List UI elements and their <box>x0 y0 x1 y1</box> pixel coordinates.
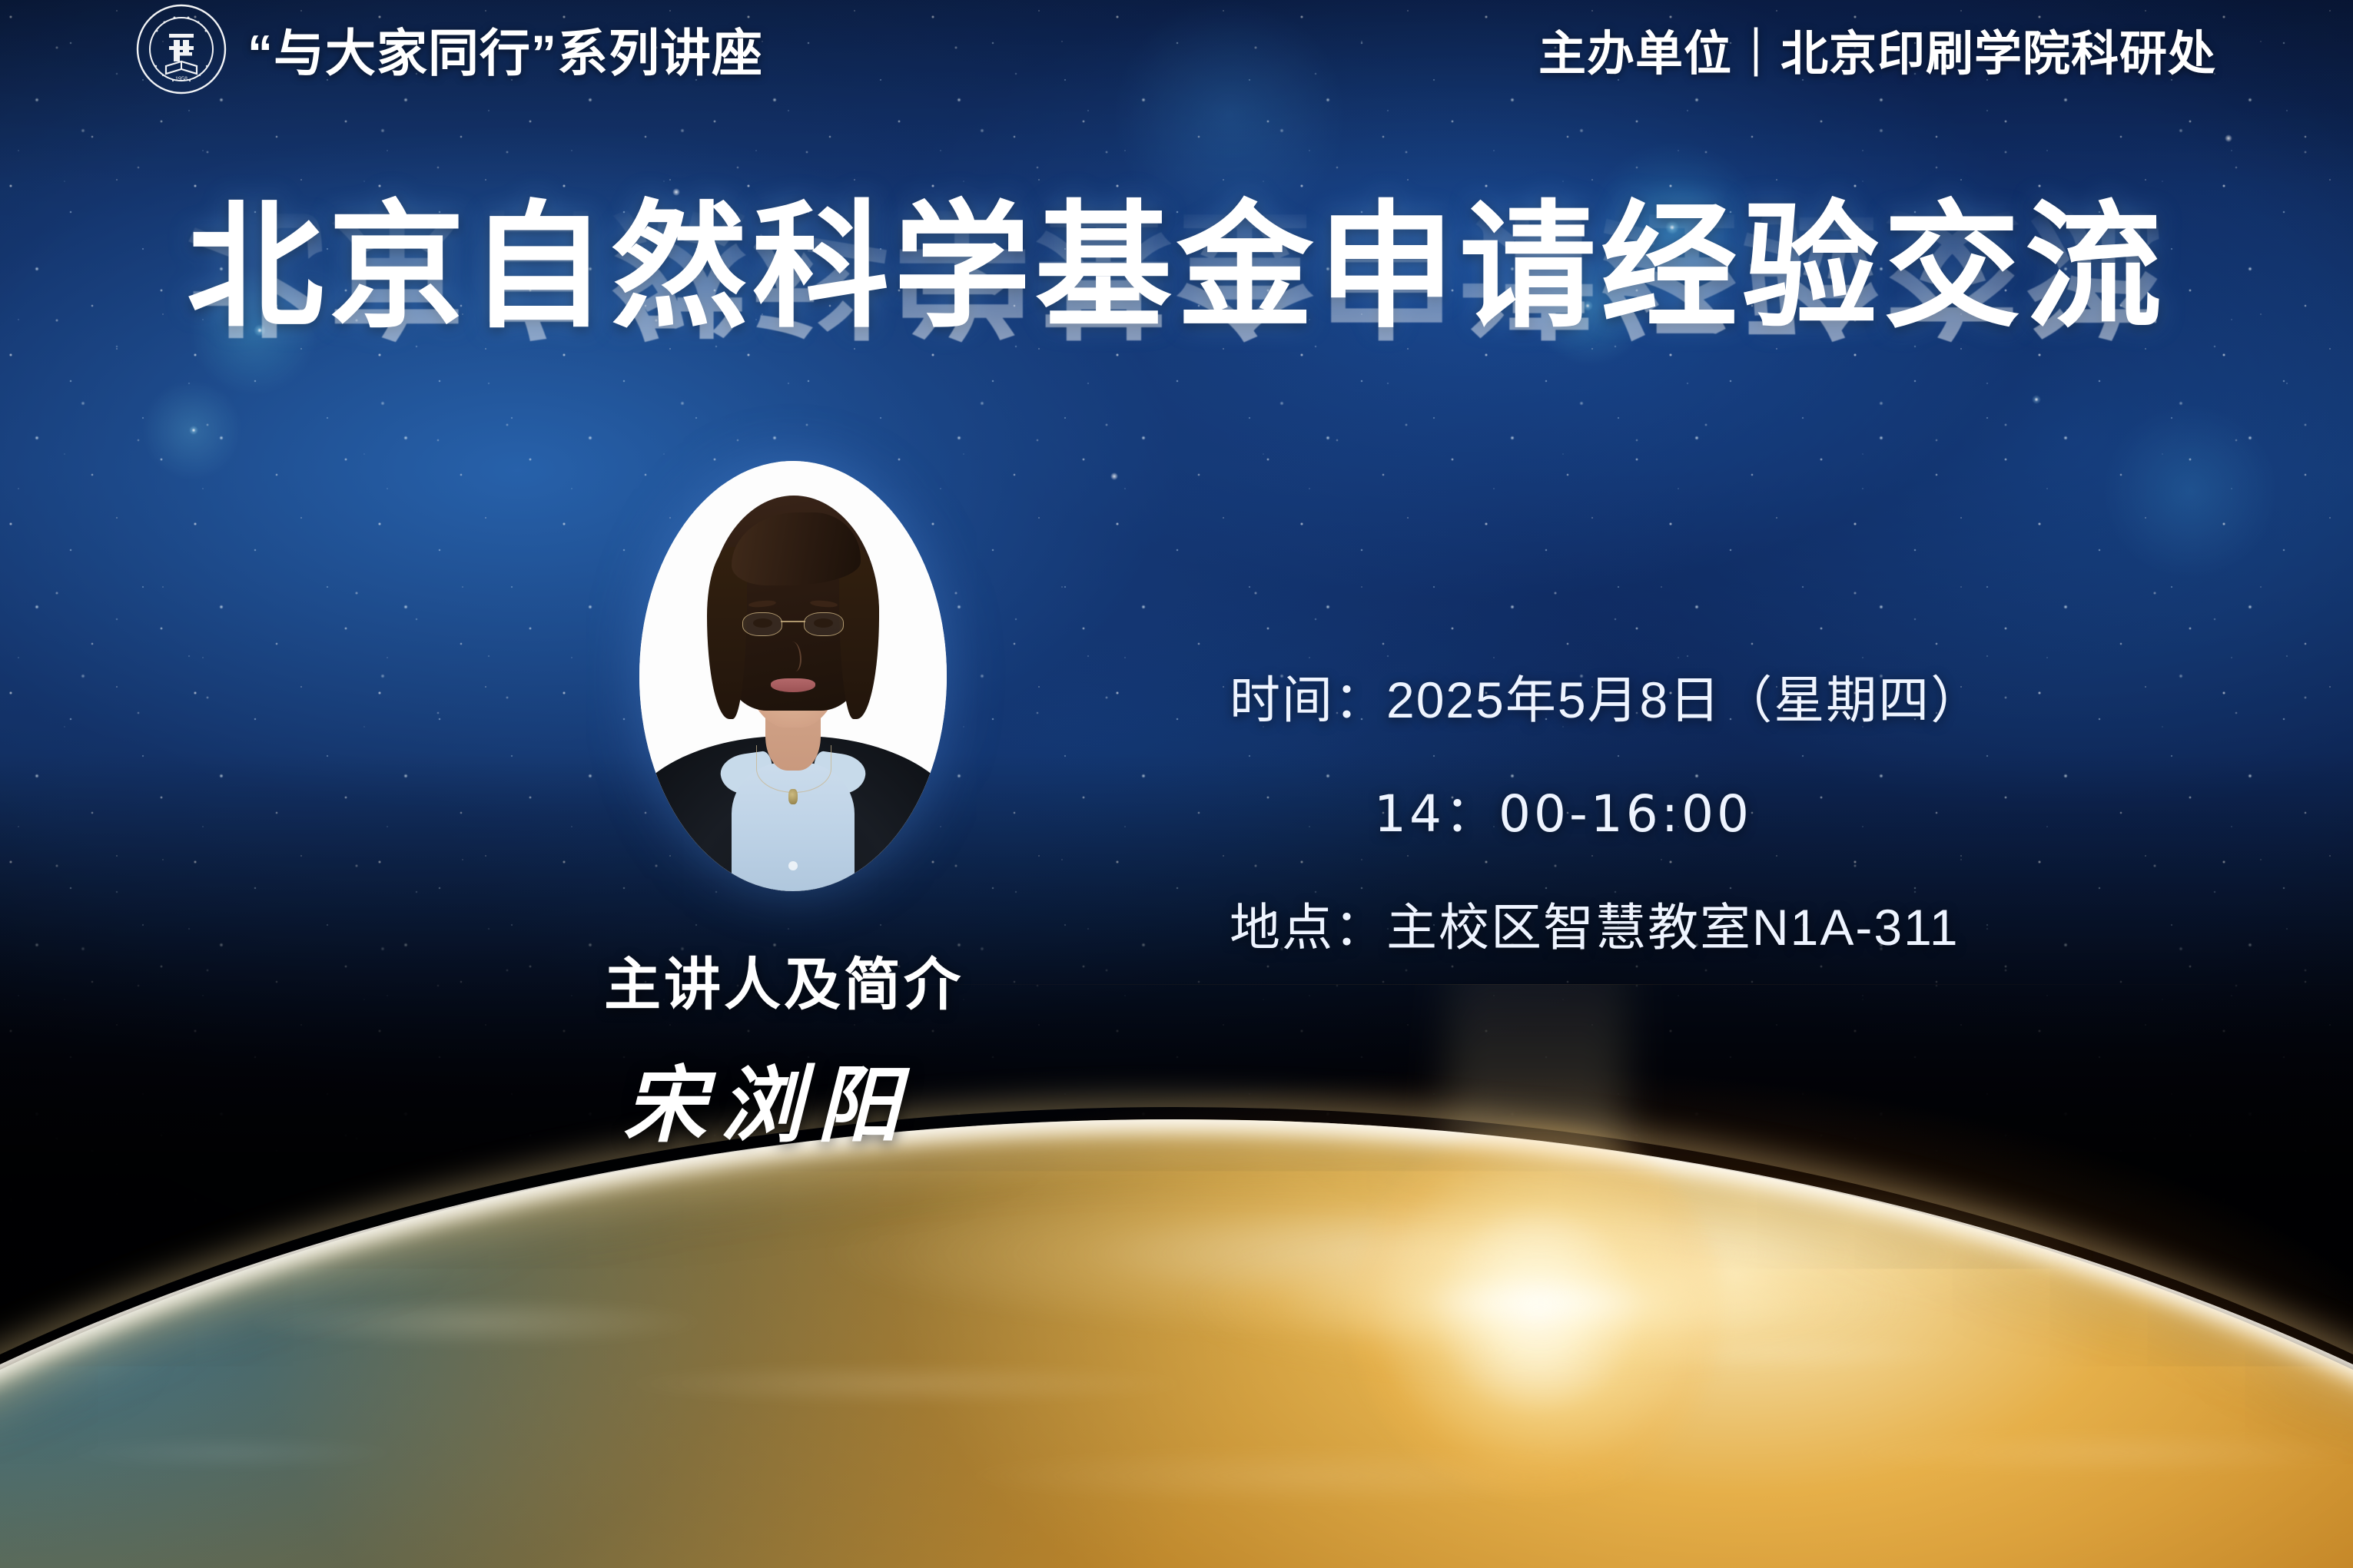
portrait-illustration <box>639 461 947 891</box>
lecture-poster: 1958 “与大家同行”系列讲座 主办单位｜北京印刷学院科研处 北京自然科学基金… <box>0 0 2353 1568</box>
earth-horizon-scene <box>0 984 2353 1568</box>
sun-burst-icon <box>1533 1307 1541 1314</box>
speaker-portrait <box>639 461 947 891</box>
